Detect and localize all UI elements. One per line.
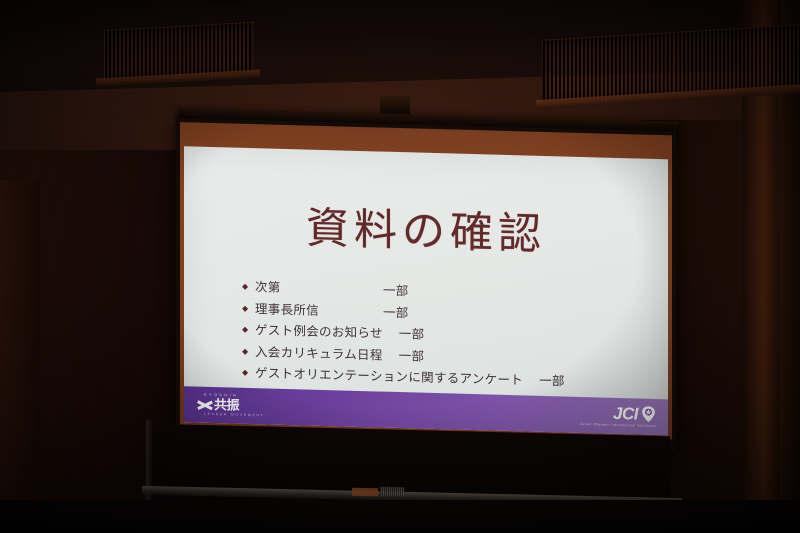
photo-scene: 資料の確認 ◆ 次第 一部 ◆ 理事長所信 一部 ◆ ゲスト例会のお知らせ 一部 [0,0,800,533]
kyoshin-logo-toptext: KYOSHIN [204,393,238,398]
jci-logo: JCI Junior Chamber International Yokoham… [580,404,656,428]
kyoshin-logo-kanji: 共振 [214,399,239,413]
kyoshin-logo-subtext: LEADER MOVEMENT [204,413,265,418]
list-item-quantity: 一部 [383,280,409,300]
kyoshin-logo: KYOSHIN 共振 LEADER MOVEMENT [196,393,265,418]
diamond-bullet-icon: ◆ [242,326,255,334]
presentation-slide: 資料の確認 ◆ 次第 一部 ◆ 理事長所信 一部 ◆ ゲスト例会のお知らせ 一部 [184,146,668,435]
list-item-quantity: 一部 [383,301,409,321]
jci-shield-icon [641,406,656,423]
room-left-wall-seam [0,180,40,533]
tray-tag-left [352,488,378,497]
diamond-bullet-icon: ◆ [242,347,255,355]
kyoshin-x-mark-icon [196,398,213,411]
list-item-quantity: 一部 [399,323,425,343]
list-item-label: 入会カリキュラム日程 [255,341,399,364]
diamond-bullet-icon: ◆ [242,369,255,377]
list-item-label: ゲスト例会のお知らせ [255,319,399,342]
whiteboard-left-post [146,420,152,510]
diamond-bullet-icon: ◆ [242,304,255,312]
slide-title: 資料の確認 [184,204,668,260]
projection-screen: 資料の確認 ◆ 次第 一部 ◆ 理事長所信 一部 ◆ ゲスト例会のお知らせ 一部 [176,118,676,452]
list-item-label: 次第 [255,276,383,298]
list-item-quantity: 一部 [399,345,425,365]
diamond-bullet-icon: ◆ [242,283,255,291]
jci-logo-subtitle: Junior Chamber International Yokohama [580,423,656,428]
room-floor [0,500,800,533]
jci-wordmark: JCI [613,405,638,423]
list-item-quantity: 一部 [539,370,565,390]
tray-tag-right [380,487,404,497]
kyoshin-logo-main: 共振 [196,398,239,412]
list-item-label: 理事長所信 [255,298,383,320]
jci-logo-main: JCI [613,405,656,423]
